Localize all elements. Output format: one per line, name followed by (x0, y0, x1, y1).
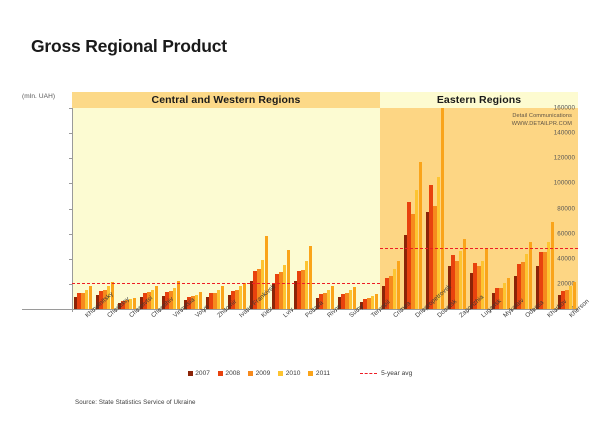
watermark-line-1: Detail Communications (512, 112, 572, 120)
legend-swatch-icon (188, 371, 193, 376)
legend-item-2010[interactable]: 2010 (278, 370, 300, 377)
bar-lugansk-2011 (485, 249, 489, 309)
legend-swatch-icon (278, 371, 283, 376)
bar-ivano-frankivsk-2011 (243, 283, 247, 309)
slide-canvas: Gross Regional Product Central and Weste… (0, 0, 600, 424)
legend-item-2007[interactable]: 2007 (188, 370, 210, 377)
legend-swatch-icon (218, 371, 223, 376)
legend-label-average: 5-year avg (381, 370, 412, 377)
band-label-central-western: Central and Western Regions (72, 92, 380, 108)
y-axis-line (72, 108, 73, 309)
bar-vinnytsia-2011 (177, 281, 181, 309)
average-line-central-western (72, 283, 380, 284)
y-axis-tick-label: 120000 (525, 155, 578, 162)
bar-lviv-2011 (287, 250, 291, 309)
group-header-band-row: Central and Western Regions Eastern Regi… (22, 92, 578, 108)
watermark-line-2: WWW.DETAILPR.COM (512, 120, 572, 128)
bar-poltava-2011 (309, 246, 313, 309)
page-title: Gross Regional Product (31, 36, 227, 57)
legend-label: 2009 (256, 370, 271, 377)
legend-item-2009[interactable]: 2009 (248, 370, 270, 377)
x-axis-tick-mark (72, 309, 73, 312)
legend-label: 2011 (316, 370, 330, 377)
legend-swatch-icon (248, 371, 253, 376)
bar-dnepropetrovsk-2011 (419, 162, 423, 309)
bar-kharkov-2011 (551, 222, 555, 309)
plot-background-west (72, 108, 380, 309)
bar-kherson-2011 (573, 282, 577, 309)
legend-label: 2010 (286, 370, 301, 377)
bar-mykolaiv-2011 (507, 278, 511, 309)
legend-item-2011[interactable]: 2011 (308, 370, 330, 377)
legend-label: 2007 (195, 370, 210, 377)
legend-dashed-line-icon (360, 373, 377, 374)
chart-container: Central and Western Regions Eastern Regi… (22, 92, 578, 382)
legend-item-2008[interactable]: 2008 (218, 370, 240, 377)
watermark: Detail CommunicationsWWW.DETAILPR.COM (512, 112, 572, 129)
legend-swatch-icon (308, 371, 313, 376)
average-line-eastern (380, 248, 578, 249)
bar-zaporizhia-2011 (463, 239, 467, 309)
legend-item-average[interactable]: 5-year avg (360, 370, 412, 377)
legend-label: 2008 (225, 370, 240, 377)
chart-legend: 200720082009201020115-year avg (22, 370, 578, 377)
y-axis-tick-label: 100000 (525, 180, 578, 187)
y-axis-tick-label: 160000 (525, 105, 578, 112)
bar-crimea-2011 (397, 261, 401, 309)
y-axis-tick-label: 80000 (525, 205, 578, 212)
y-axis-tick-label: 140000 (525, 130, 578, 137)
source-note: Source: State Statistics Service of Ukra… (75, 399, 196, 406)
bar-donetsk-2011 (441, 108, 445, 309)
bar-odessa-2011 (529, 242, 533, 309)
y-axis-unit-label: (mln. UAH) (22, 93, 72, 100)
plot-area: 0200004000060000800001000001200001400001… (22, 108, 578, 309)
